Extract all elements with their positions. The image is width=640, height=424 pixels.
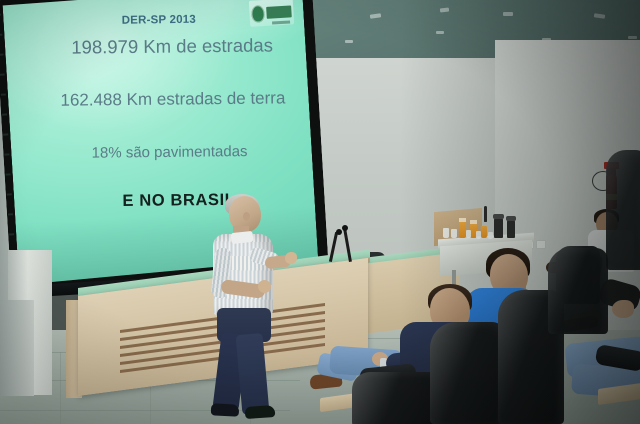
logo-subtext — [272, 20, 290, 24]
auditorium-seat[interactable] — [430, 322, 506, 424]
ceiling-patch — [628, 36, 637, 39]
presenter-right-hand — [285, 252, 297, 264]
auditorium-seat[interactable] — [606, 150, 640, 270]
wall-switch[interactable] — [536, 240, 546, 249]
thermos-lid — [506, 216, 516, 221]
juice-bottle-icon — [459, 222, 466, 238]
attendee-hand — [612, 300, 634, 318]
structural-column-base — [0, 300, 34, 396]
stirrer-icon — [484, 206, 487, 222]
presenter-ear — [243, 212, 250, 221]
floor-tile-seam — [60, 352, 61, 424]
ceiling-patch — [345, 40, 353, 43]
microphone-head-icon — [336, 229, 342, 235]
glass-icon — [488, 232, 493, 239]
thermos-icon — [507, 220, 515, 238]
presenter-front-shoe — [245, 405, 276, 419]
slide-line-1: 198.979 Km de estradas — [71, 34, 273, 58]
auditorium-seat[interactable] — [548, 248, 608, 334]
lecture-hall-photo: DER-SP 2013 198.979 Km de estradas 162.4… — [0, 0, 640, 424]
presenter-left-hand — [258, 280, 271, 293]
logo-crest-icon — [251, 5, 265, 23]
juice-bottle-icon — [481, 226, 487, 238]
der-sp-logo-icon — [249, 0, 294, 27]
ceiling-patch — [503, 12, 513, 16]
thermos-lid — [493, 214, 504, 219]
presenter-collar — [230, 231, 253, 244]
glass-icon — [451, 229, 457, 238]
slide-title: DER-SP 2013 — [122, 14, 196, 27]
glass-icon — [466, 230, 471, 238]
logo-wordmark — [266, 5, 292, 18]
presenter-front-leg — [236, 333, 270, 415]
microphone-head-icon — [342, 225, 348, 231]
presenter-back-shoe — [211, 403, 240, 416]
juice-bottle-cap — [459, 218, 466, 222]
juice-bottle-cap — [470, 220, 477, 224]
slide-line-3: 18% são pavimentadas — [91, 143, 247, 162]
glass-icon — [476, 231, 481, 239]
ceiling-patch — [436, 31, 444, 34]
slide-line-2: 162.488 Km estradas de terra — [60, 88, 285, 110]
thermos-icon — [494, 218, 503, 238]
glass-icon — [443, 228, 449, 238]
presenter-figure — [205, 196, 297, 424]
